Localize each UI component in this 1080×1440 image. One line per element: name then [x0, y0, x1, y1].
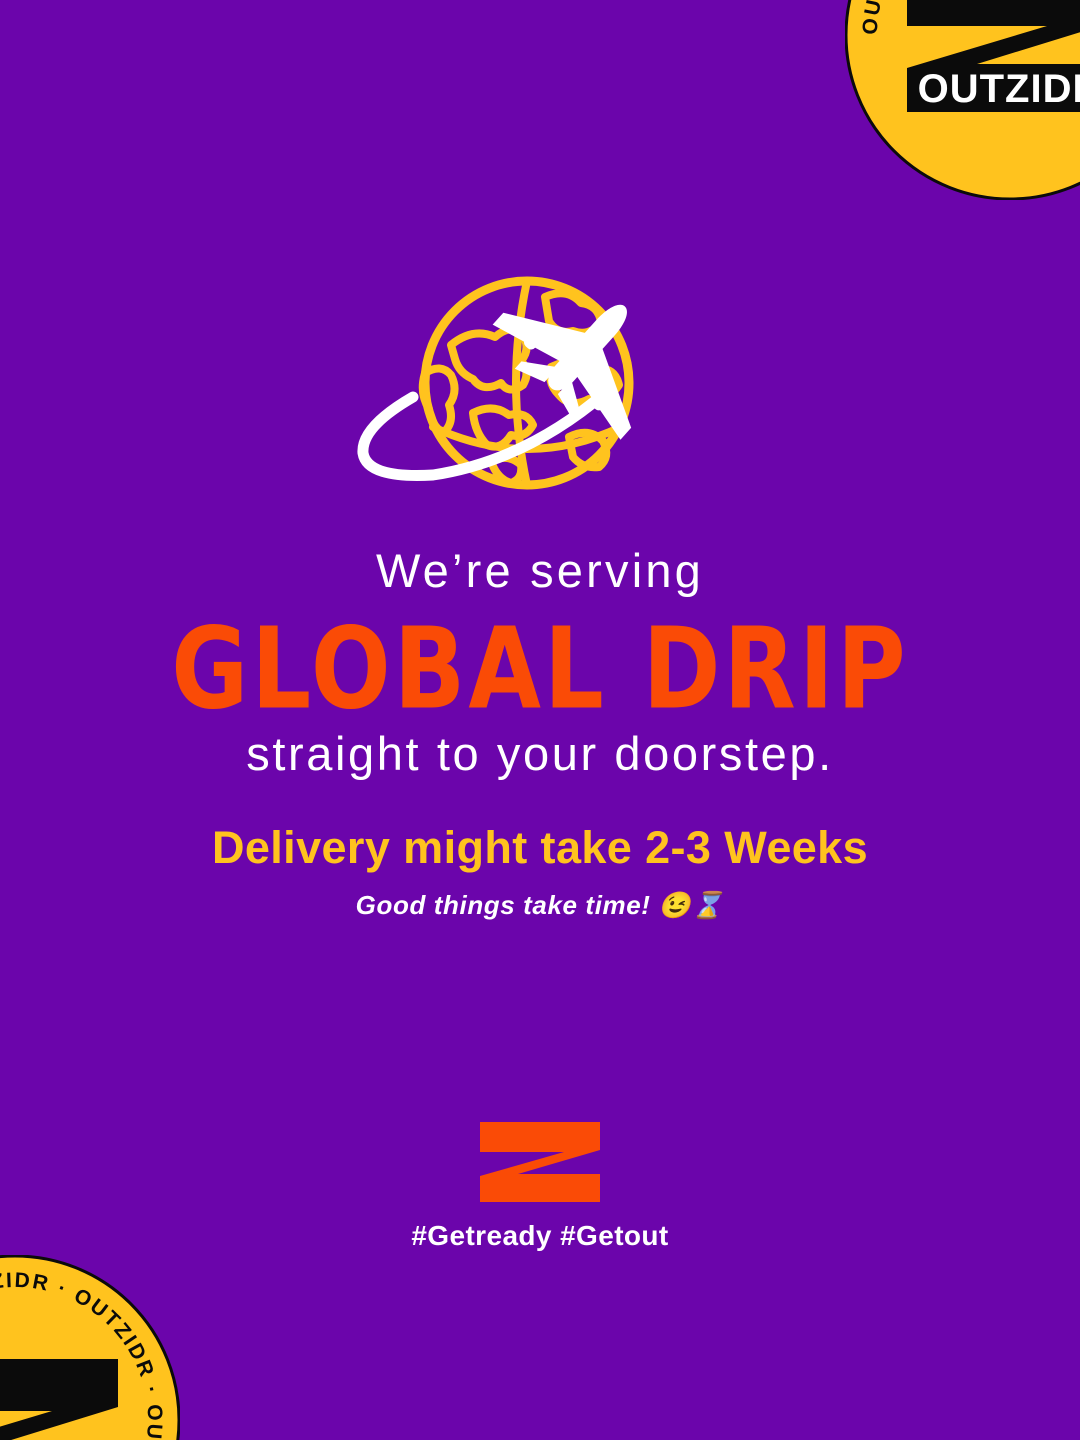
globe-with-airplane-icon: [355, 275, 725, 515]
outzidr-z-logomark: [478, 1122, 602, 1202]
promo-poster: We’re serving GLOBAL DRIP straight to yo…: [0, 0, 1080, 1440]
footer-block: #Getready #Getout: [0, 1122, 1080, 1252]
delivery-subtitle: Good things take time! 😉⌛: [0, 890, 1080, 921]
footer-hashtags: #Getready #Getout: [0, 1220, 1080, 1252]
headline-eyebrow: We’re serving: [0, 545, 1080, 598]
badge-wordmark: OUTZIDR: [918, 67, 1080, 111]
headline-block: We’re serving GLOBAL DRIP straight to yo…: [0, 545, 1080, 781]
delivery-headline: Delivery might take 2-3 Weeks: [0, 822, 1080, 874]
delivery-notice-block: Delivery might take 2-3 Weeks Good thing…: [0, 822, 1080, 921]
headline-main: GLOBAL DRIP: [0, 604, 1080, 736]
outzidr-stamp-badge-top-right: OUTZIDR · OUTZIDR · OUTZIDR · OUTZIDR · …: [845, 0, 1080, 200]
outzidr-stamp-badge-bottom-left: OUTZIDR · OUTZIDR · OUTZIDR · OUTZIDR · …: [0, 1255, 180, 1440]
